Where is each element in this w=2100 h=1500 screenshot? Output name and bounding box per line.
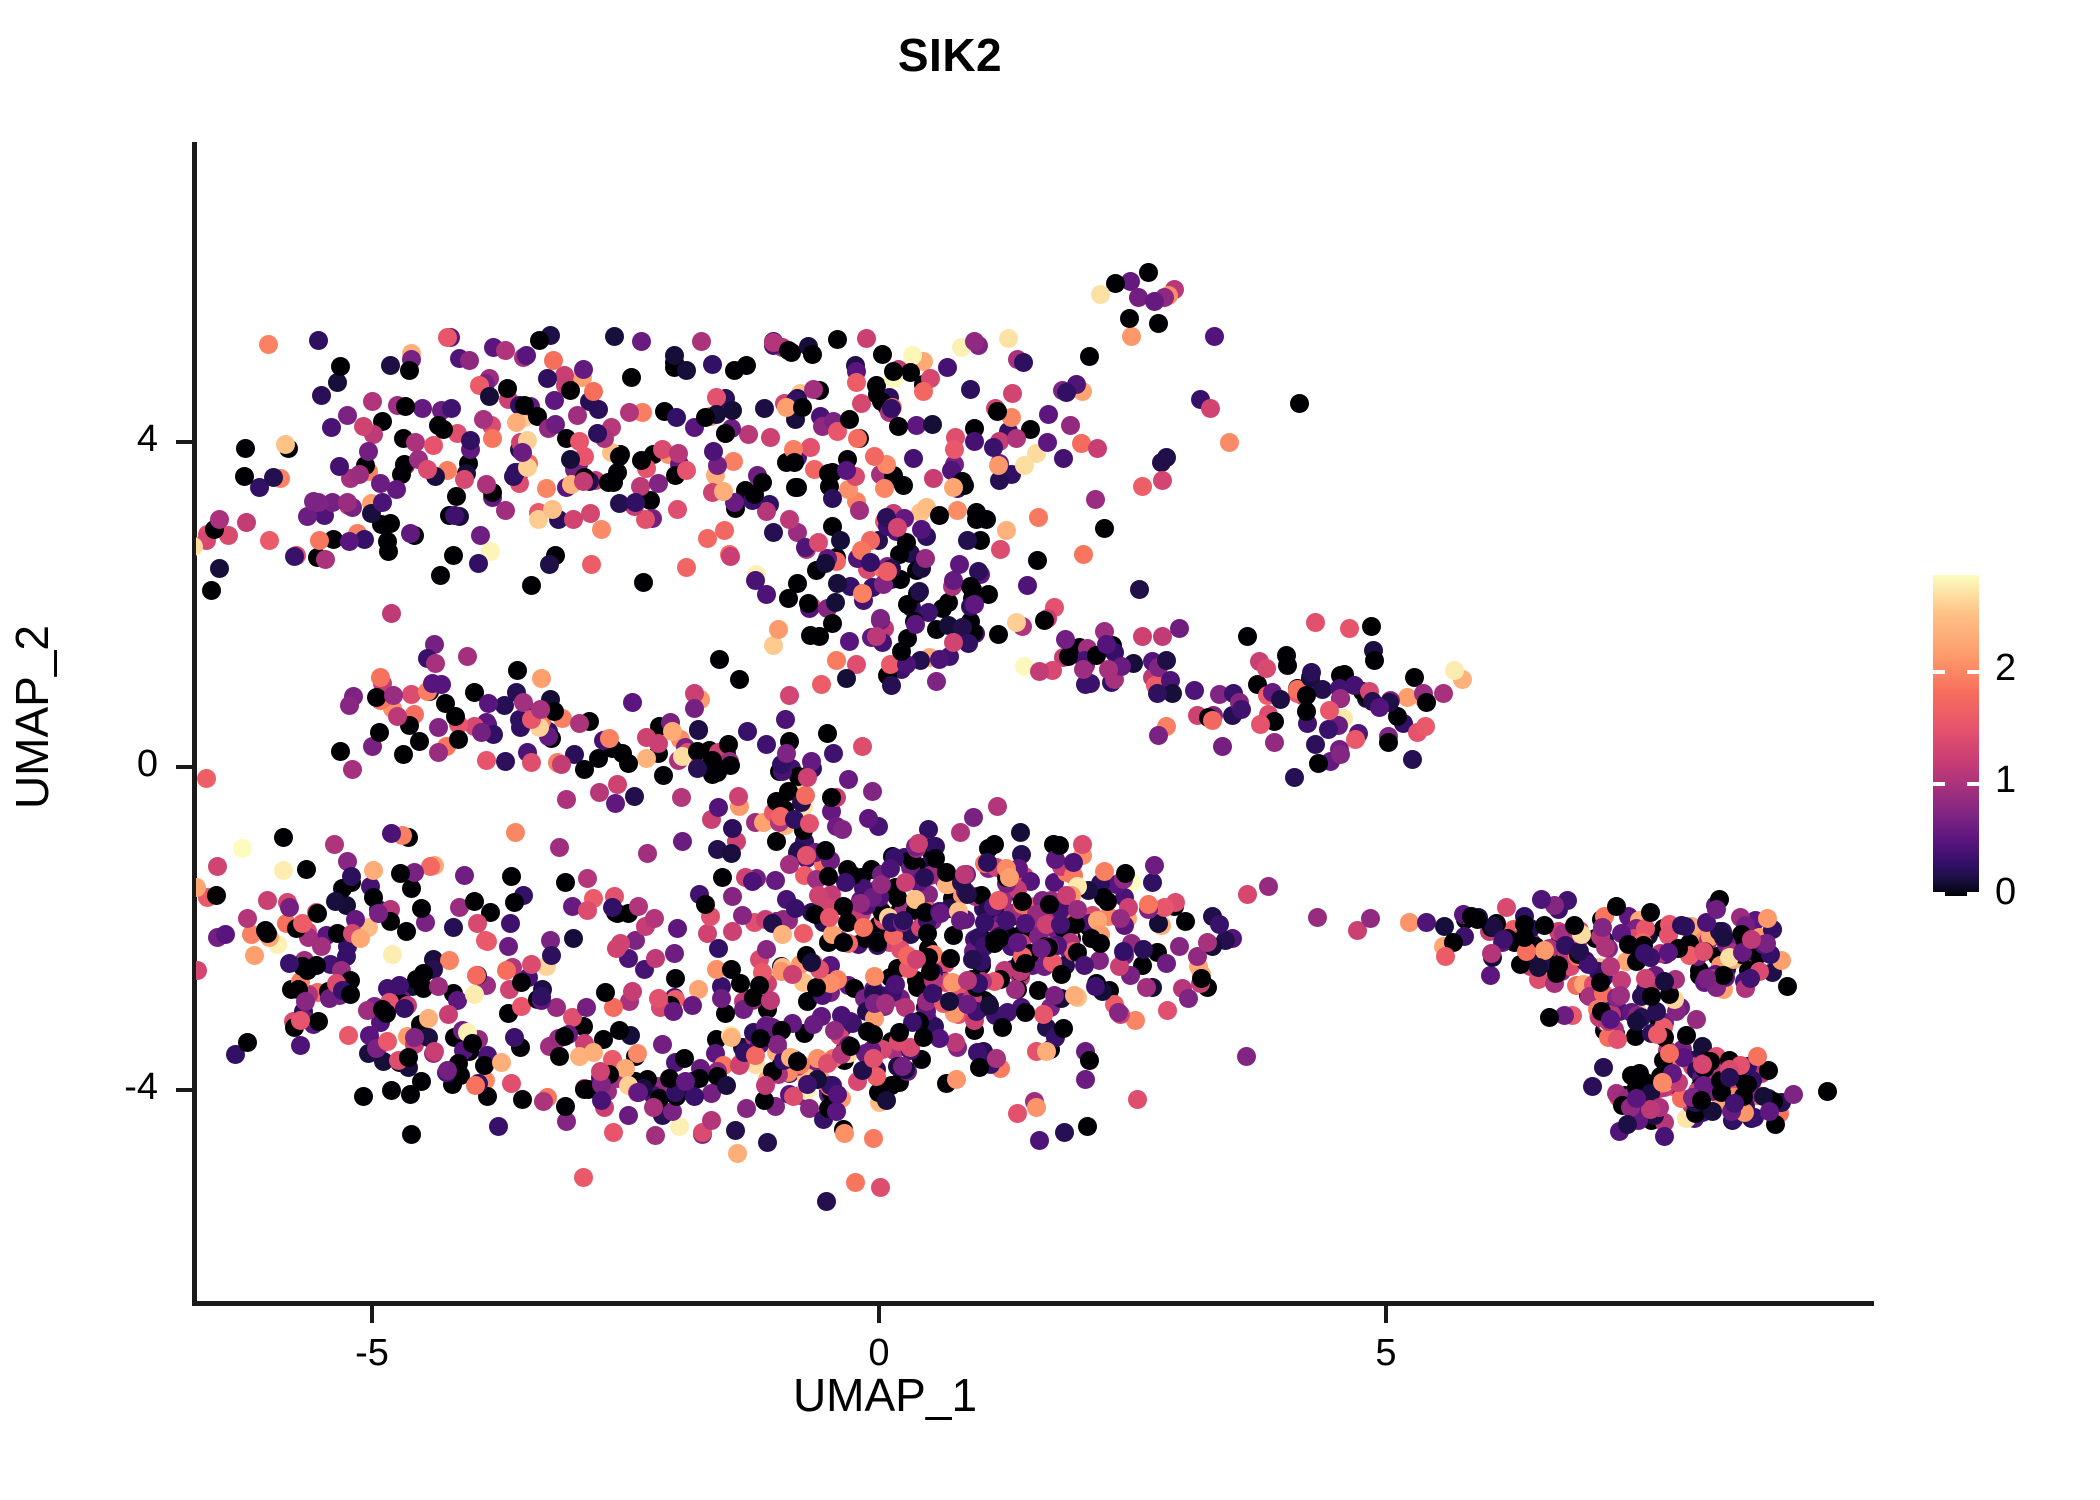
scatter-point: [948, 501, 967, 520]
scatter-point: [432, 675, 451, 694]
scatter-point: [846, 1173, 865, 1192]
scatter-point: [501, 914, 520, 933]
scatter-point: [867, 627, 886, 646]
scatter-point: [369, 904, 388, 923]
scatter-point: [1065, 986, 1084, 1005]
scatter-point: [338, 493, 357, 512]
scatter-point: [382, 604, 401, 623]
scatter-point: [570, 714, 589, 733]
y-tick-neg4: [176, 1088, 193, 1092]
scatter-point: [721, 756, 740, 775]
scatter-point: [837, 669, 856, 688]
scatter-point: [429, 743, 448, 762]
scatter-point: [1758, 909, 1777, 928]
scatter-point: [840, 410, 859, 429]
scatter-point: [828, 1085, 847, 1104]
scatter-point: [836, 873, 855, 892]
scatter-point: [989, 625, 1008, 644]
scatter-point: [444, 918, 463, 937]
scatter-point: [963, 950, 982, 969]
scatter-point: [596, 983, 615, 1002]
scatter-point: [564, 929, 583, 948]
scatter-point: [1265, 733, 1284, 752]
scatter-point: [236, 439, 255, 458]
scatter-point: [894, 476, 913, 495]
scatter-point: [993, 1018, 1012, 1037]
scatter-point: [532, 669, 551, 688]
scatter-point: [196, 961, 207, 980]
scatter-point: [997, 521, 1016, 540]
scatter-point: [850, 501, 869, 520]
scatter-point: [918, 924, 937, 943]
scatter-point: [1416, 717, 1435, 736]
scatter-point: [826, 593, 845, 612]
scatter-point: [1157, 651, 1176, 670]
scatter-point: [839, 770, 858, 789]
colorbar-legend: 2 1 0: [1933, 575, 1979, 896]
scatter-point: [245, 946, 264, 965]
colorbar-tick-0-right: [1967, 892, 1979, 896]
scatter-point: [496, 341, 515, 360]
scatter-point: [1052, 965, 1071, 984]
scatter-point: [958, 995, 977, 1014]
scatter-point: [865, 447, 884, 466]
scatter-point: [489, 1117, 508, 1136]
scatter-point: [210, 559, 229, 578]
scatter-point: [291, 1036, 310, 1055]
scatter-point: [312, 386, 331, 405]
scatter-point: [794, 924, 813, 943]
scatter-point: [351, 929, 370, 948]
scatter-point: [455, 470, 474, 489]
scatter-point: [258, 891, 277, 910]
scatter-point: [1192, 969, 1211, 988]
scatter-point: [827, 1102, 846, 1121]
scatter-point: [1659, 943, 1678, 962]
scatter-point: [483, 429, 502, 448]
scatter-point: [923, 984, 942, 1003]
scatter-point: [1361, 909, 1380, 928]
scatter-point: [570, 432, 589, 451]
scatter-point: [1271, 690, 1290, 709]
scatter-point: [888, 518, 907, 537]
scatter-point: [370, 723, 389, 742]
scatter-point: [1055, 1123, 1074, 1142]
scatter-point: [877, 1091, 896, 1110]
scatter-point: [859, 809, 878, 828]
scatter-point: [1400, 913, 1419, 932]
scatter-point: [1497, 898, 1516, 917]
scatter-point: [854, 918, 873, 937]
scatter-point: [725, 361, 744, 380]
scatter-point: [471, 526, 490, 545]
scatter-point: [1608, 1030, 1627, 1049]
scatter-point: [664, 1002, 683, 1021]
scatter-point: [1143, 873, 1162, 892]
scatter-point: [310, 531, 329, 550]
scatter-point: [444, 546, 463, 565]
scatter-point: [930, 650, 949, 669]
scatter-point: [449, 730, 468, 749]
scatter-point: [405, 1028, 424, 1047]
scatter-point: [777, 744, 796, 763]
scatter-point: [654, 766, 673, 785]
scatter-point: [985, 835, 1004, 854]
scatter-point: [944, 478, 963, 497]
scatter-point: [1340, 619, 1359, 638]
scatter-point: [1205, 327, 1224, 346]
scatter-point: [1003, 384, 1022, 403]
scatter-point: [480, 387, 499, 406]
scatter-point: [837, 461, 856, 480]
scatter-point: [1000, 868, 1019, 887]
scatter-point: [534, 1092, 553, 1111]
scatter-point: [1015, 456, 1034, 475]
scatter-point: [709, 798, 728, 817]
scatter-point: [1692, 1091, 1711, 1110]
scatter-point: [382, 824, 401, 843]
scatter-point: [1045, 986, 1064, 1005]
scatter-point: [619, 754, 638, 773]
scatter-point: [1203, 711, 1222, 730]
scatter-point: [561, 381, 580, 400]
scatter-point: [1725, 1094, 1744, 1113]
scatter-point: [1570, 942, 1589, 961]
scatter-point: [743, 872, 762, 891]
scatter-point: [1346, 730, 1365, 749]
scatter-point: [739, 425, 758, 444]
scatter-point: [413, 399, 432, 418]
scatter-point: [1379, 733, 1398, 752]
scatter-point: [477, 751, 496, 770]
scatter-point: [1238, 627, 1257, 646]
scatter-point: [672, 788, 691, 807]
scatter-point: [238, 909, 257, 928]
scatter-point: [783, 965, 802, 984]
scatter-point: [258, 924, 277, 943]
scatter-point: [492, 1053, 511, 1072]
scatter-point: [508, 661, 527, 680]
scatter-point: [634, 573, 653, 592]
scatter-point: [878, 562, 897, 581]
scatter-point: [646, 1126, 665, 1145]
scatter-point: [828, 330, 847, 349]
scatter-point: [280, 954, 299, 973]
scatter-point: [1648, 1025, 1667, 1044]
scatter-point: [688, 759, 707, 778]
scatter-point: [340, 532, 359, 551]
scatter-point: [1027, 1098, 1046, 1117]
scatter-point: [458, 647, 477, 666]
x-tick-5: [1384, 1306, 1388, 1323]
scatter-point: [812, 675, 831, 694]
scatter-point: [331, 742, 350, 761]
scatter-point: [1306, 735, 1325, 754]
scatter-point: [371, 474, 390, 493]
scatter-point: [442, 399, 461, 418]
scatter-point: [715, 521, 734, 540]
scatter-point: [542, 946, 561, 965]
scatter-point: [1028, 551, 1047, 570]
scatter-point: [958, 971, 977, 990]
scatter-point: [796, 786, 815, 805]
scatter-point: [1074, 660, 1093, 679]
scatter-point: [474, 410, 493, 429]
scatter-point: [728, 1144, 747, 1163]
scatter-point: [390, 976, 409, 995]
scatter-point: [478, 932, 497, 951]
scatter-point: [712, 989, 731, 1008]
scatter-point: [1157, 954, 1176, 973]
scatter-point: [1297, 686, 1316, 705]
scatter-point: [1134, 940, 1153, 959]
scatter-point: [1653, 1073, 1672, 1092]
scatter-point: [394, 745, 413, 764]
scatter-point: [210, 510, 229, 529]
scatter-point: [1417, 693, 1436, 712]
colorbar-label-0: 0: [1995, 871, 2085, 914]
scatter-point: [1040, 895, 1059, 914]
scatter-point: [1034, 1005, 1053, 1024]
scatter-point: [1594, 1058, 1613, 1077]
scatter-point: [537, 479, 556, 498]
scatter-point: [1059, 647, 1078, 666]
scatter-point: [1532, 890, 1551, 909]
scatter-point: [1076, 1070, 1095, 1089]
scatter-point: [1088, 439, 1107, 458]
scatter-point: [379, 542, 398, 561]
colorbar-tick-1-left: [1933, 782, 1945, 786]
scatter-point: [341, 985, 360, 1004]
scatter-point: [382, 1081, 401, 1100]
scatter-point: [756, 1076, 775, 1095]
scatter-point: [1035, 611, 1054, 630]
scatter-point: [1149, 726, 1168, 745]
scatter-point: [1030, 662, 1049, 681]
scatter-point: [364, 861, 383, 880]
scatter-point: [944, 571, 963, 590]
scatter-point: [574, 1168, 593, 1187]
scatter-point: [737, 1099, 756, 1118]
scatter-point: [1583, 1077, 1602, 1096]
scatter-point: [308, 904, 327, 923]
scatter-point: [1137, 978, 1156, 997]
scatter-point: [1095, 519, 1114, 538]
scatter-point: [1039, 405, 1058, 424]
scatter-point: [1641, 903, 1660, 922]
scatter-point: [309, 331, 328, 350]
scatter-point: [298, 961, 317, 980]
scatter-point: [746, 1046, 765, 1065]
scatter-point: [1618, 1115, 1637, 1134]
scatter-point: [550, 1047, 569, 1066]
scatter-point: [1097, 635, 1116, 654]
scatter-point: [757, 940, 776, 959]
scatter-point: [793, 398, 812, 417]
scatter-point: [1007, 429, 1026, 448]
scatter-point: [719, 735, 738, 754]
scatter-point: [1170, 619, 1189, 638]
scatter-point: [882, 676, 901, 695]
scatter-point: [677, 361, 696, 380]
scatter-point: [788, 478, 807, 497]
scatter-point: [1086, 490, 1105, 509]
scatter-point: [1237, 1047, 1256, 1066]
scatter-point: [730, 670, 749, 689]
scatter-point: [429, 977, 448, 996]
scatter-point: [350, 465, 369, 484]
scatter-point: [941, 949, 960, 968]
scatter-point: [550, 838, 569, 857]
scatter-point: [751, 1029, 770, 1048]
scatter-point: [704, 442, 723, 461]
scatter-point: [607, 939, 626, 958]
scatter-point: [867, 376, 886, 395]
scatter-point: [961, 380, 980, 399]
scatter-point: [557, 790, 576, 809]
scatter-point: [1535, 916, 1554, 935]
scatter-point: [622, 368, 641, 387]
scatter-point: [923, 415, 942, 434]
scatter-point: [822, 788, 841, 807]
scatter-point: [424, 436, 443, 455]
scatter-point: [439, 1005, 458, 1024]
scatter-point: [1277, 646, 1296, 665]
scatter-point: [834, 933, 853, 952]
scatter-point: [467, 966, 486, 985]
scatter-point: [512, 973, 531, 992]
scatter-point: [894, 911, 913, 930]
scatter-point: [584, 382, 603, 401]
scatter-point: [871, 609, 890, 628]
scatter-point: [395, 999, 414, 1018]
scatter-point: [1611, 986, 1630, 1005]
scatter-point: [581, 504, 600, 523]
scatter-point: [785, 453, 804, 472]
scatter-point: [950, 555, 969, 574]
scatter-point: [466, 1076, 485, 1095]
scatter-point: [632, 332, 651, 351]
scatter-point: [237, 513, 256, 532]
scatter-point: [1784, 1085, 1803, 1104]
scatter-point: [858, 1022, 877, 1041]
scatter-point: [582, 555, 601, 574]
scatter-point: [1018, 576, 1037, 595]
scatter-point: [863, 782, 882, 801]
scatter-point: [502, 867, 521, 886]
scatter-point: [1149, 314, 1168, 333]
scatter-point: [297, 860, 316, 879]
scatter-point: [1257, 659, 1276, 678]
scatter-point: [958, 531, 977, 550]
scatter-point: [999, 329, 1018, 348]
scatter-point: [296, 992, 315, 1011]
scatter-point: [779, 341, 798, 360]
scatter-point: [331, 357, 350, 376]
scatter-point: [809, 886, 828, 905]
scatter-point: [1635, 944, 1654, 963]
scatter-point: [851, 894, 870, 913]
scatter-point: [717, 1076, 736, 1095]
scatter-point: [309, 1012, 328, 1031]
scatter-point: [1540, 1008, 1559, 1027]
scatter-point: [723, 401, 742, 420]
scatter-point: [1601, 957, 1620, 976]
y-tick-label-neg4: -4: [38, 1066, 158, 1109]
scatter-point: [1596, 938, 1615, 957]
scatter-point: [575, 760, 594, 779]
scatter-point: [469, 554, 488, 573]
scatter-point: [440, 951, 459, 970]
scatter-point: [1086, 977, 1105, 996]
scatter-point: [628, 1044, 647, 1063]
scatter-point: [1436, 947, 1455, 966]
scatter-point: [847, 373, 866, 392]
scatter-point: [738, 722, 757, 741]
scatter-point: [606, 794, 625, 813]
scatter-point: [799, 594, 818, 613]
scatter-point: [383, 945, 402, 964]
scatter-point: [343, 760, 362, 779]
y-tick-0: [176, 765, 193, 769]
scatter-point: [873, 345, 892, 364]
scatter-point: [1213, 737, 1232, 756]
scatter-point: [857, 329, 876, 348]
scatter-point: [991, 540, 1010, 559]
scatter-point: [1365, 651, 1384, 670]
scatter-point: [916, 549, 935, 568]
scatter-point: [410, 732, 429, 751]
scatter-point: [1238, 885, 1257, 904]
scatter-point: [543, 500, 562, 519]
scatter-point: [578, 869, 597, 888]
scatter-point: [316, 550, 335, 569]
scatter-point: [1308, 908, 1327, 927]
scatter-point: [906, 615, 925, 634]
scatter-point: [233, 839, 252, 858]
scatter-point: [1145, 292, 1164, 311]
scatter-point: [381, 514, 400, 533]
scatter-point: [702, 1111, 721, 1130]
scatter-point: [797, 846, 816, 865]
scatter-point: [465, 985, 484, 1004]
scatter-point: [412, 899, 431, 918]
scatter-point: [280, 898, 299, 917]
scatter-point: [853, 737, 872, 756]
x-tick-label-5: 5: [1326, 1332, 1446, 1375]
scatter-point: [804, 380, 823, 399]
scatter-point: [1179, 989, 1198, 1008]
scatter-point: [629, 1083, 648, 1102]
scatter-point: [637, 749, 656, 768]
colorbar-tick-1-right: [1967, 782, 1979, 786]
scatter-point: [951, 823, 970, 842]
scatter-point: [1285, 768, 1304, 787]
scatter-point: [1099, 660, 1118, 679]
scatter-point: [677, 461, 696, 480]
scatter-point: [1778, 977, 1797, 996]
scatter-point: [1111, 909, 1130, 928]
scatter-point: [769, 620, 788, 639]
scatter-point: [522, 576, 541, 595]
scatter-point: [429, 718, 448, 737]
scatter-point: [322, 418, 341, 437]
scatter-point: [915, 868, 934, 887]
scatter-point: [498, 379, 517, 398]
scatter-point: [864, 1129, 883, 1148]
colorbar-label-2: 2: [1995, 647, 2085, 690]
colorbar-gradient: [1933, 575, 1979, 896]
